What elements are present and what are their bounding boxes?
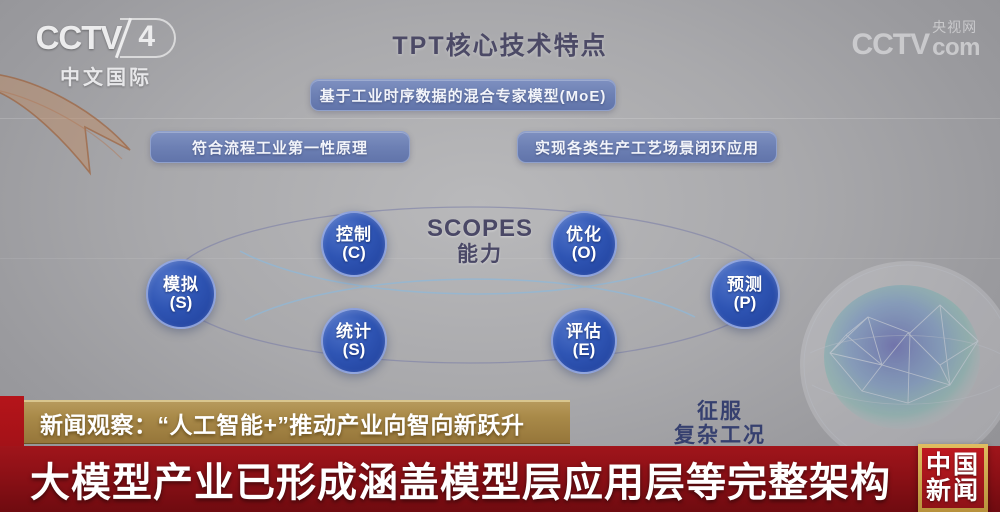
slide-title: TPT核心技术特点 [0,26,1000,62]
node-control-label: 控制 [336,226,372,244]
node-statistic-label: 统计 [336,323,372,341]
program-badge-line2: 新闻 [926,478,980,504]
feature-pill-closedloop: 实现各类生产工艺场景闭环应用 [517,131,777,163]
center-capability-label: SCOPES 能力 [400,215,560,267]
node-predict-abbr: (P) [734,294,757,312]
center-label-en: SCOPES [400,215,560,243]
node-predict-label: 预测 [727,276,763,294]
sub-headline-text: 新闻观察：“人工智能+”推动产业向智向新跃升 [40,406,524,440]
node-simulate: 模拟 (S) [146,259,216,329]
node-evaluate-abbr: (E) [573,341,596,359]
program-badge-line1: 中国 [926,452,980,478]
node-statistic-abbr: (S) [343,341,366,359]
conquer-line1: 征服 [697,400,743,423]
node-simulate-label: 模拟 [163,276,199,294]
feature-pill-moe: 基于工业时序数据的混合专家模型(MoE) [310,79,616,111]
headline-text: 大模型产业已形成涵盖模型层应用层等完整架构 [30,450,891,508]
node-statistic: 统计 (S) [321,308,387,374]
node-optimize-label: 优化 [566,226,602,244]
conquer-line2: 复杂工况 [655,424,785,448]
node-evaluate: 评估 (E) [551,308,617,374]
channel-sub-label: 中文国际 [26,61,186,90]
program-badge: 中国 新闻 [918,444,988,512]
node-control-abbr: (C) [342,244,366,262]
headline-banner: 大模型产业已形成涵盖模型层应用层等完整架构 [0,446,1000,512]
sub-headline-banner: 新闻观察：“人工智能+”推动产业向智向新跃升 [24,400,570,444]
node-control: 控制 (C) [321,211,387,277]
feature-pill-principle: 符合流程工业第一性原理 [150,131,410,163]
node-evaluate-label: 评估 [566,323,602,341]
node-optimize-abbr: (O) [572,244,597,262]
tv-broadcast-frame: CCTV 4 中文国际 CCTV 央视网 com TPT核心技术特点 基于工业时… [0,0,1000,512]
center-label-cn: 能力 [400,243,560,267]
node-optimize: 优化 (O) [551,211,617,277]
conquer-caption: 征服 复杂工况 [655,400,785,448]
node-predict: 预测 (P) [710,259,780,329]
digital-brain-graphic [790,245,1000,475]
node-simulate-abbr: (S) [170,294,193,312]
